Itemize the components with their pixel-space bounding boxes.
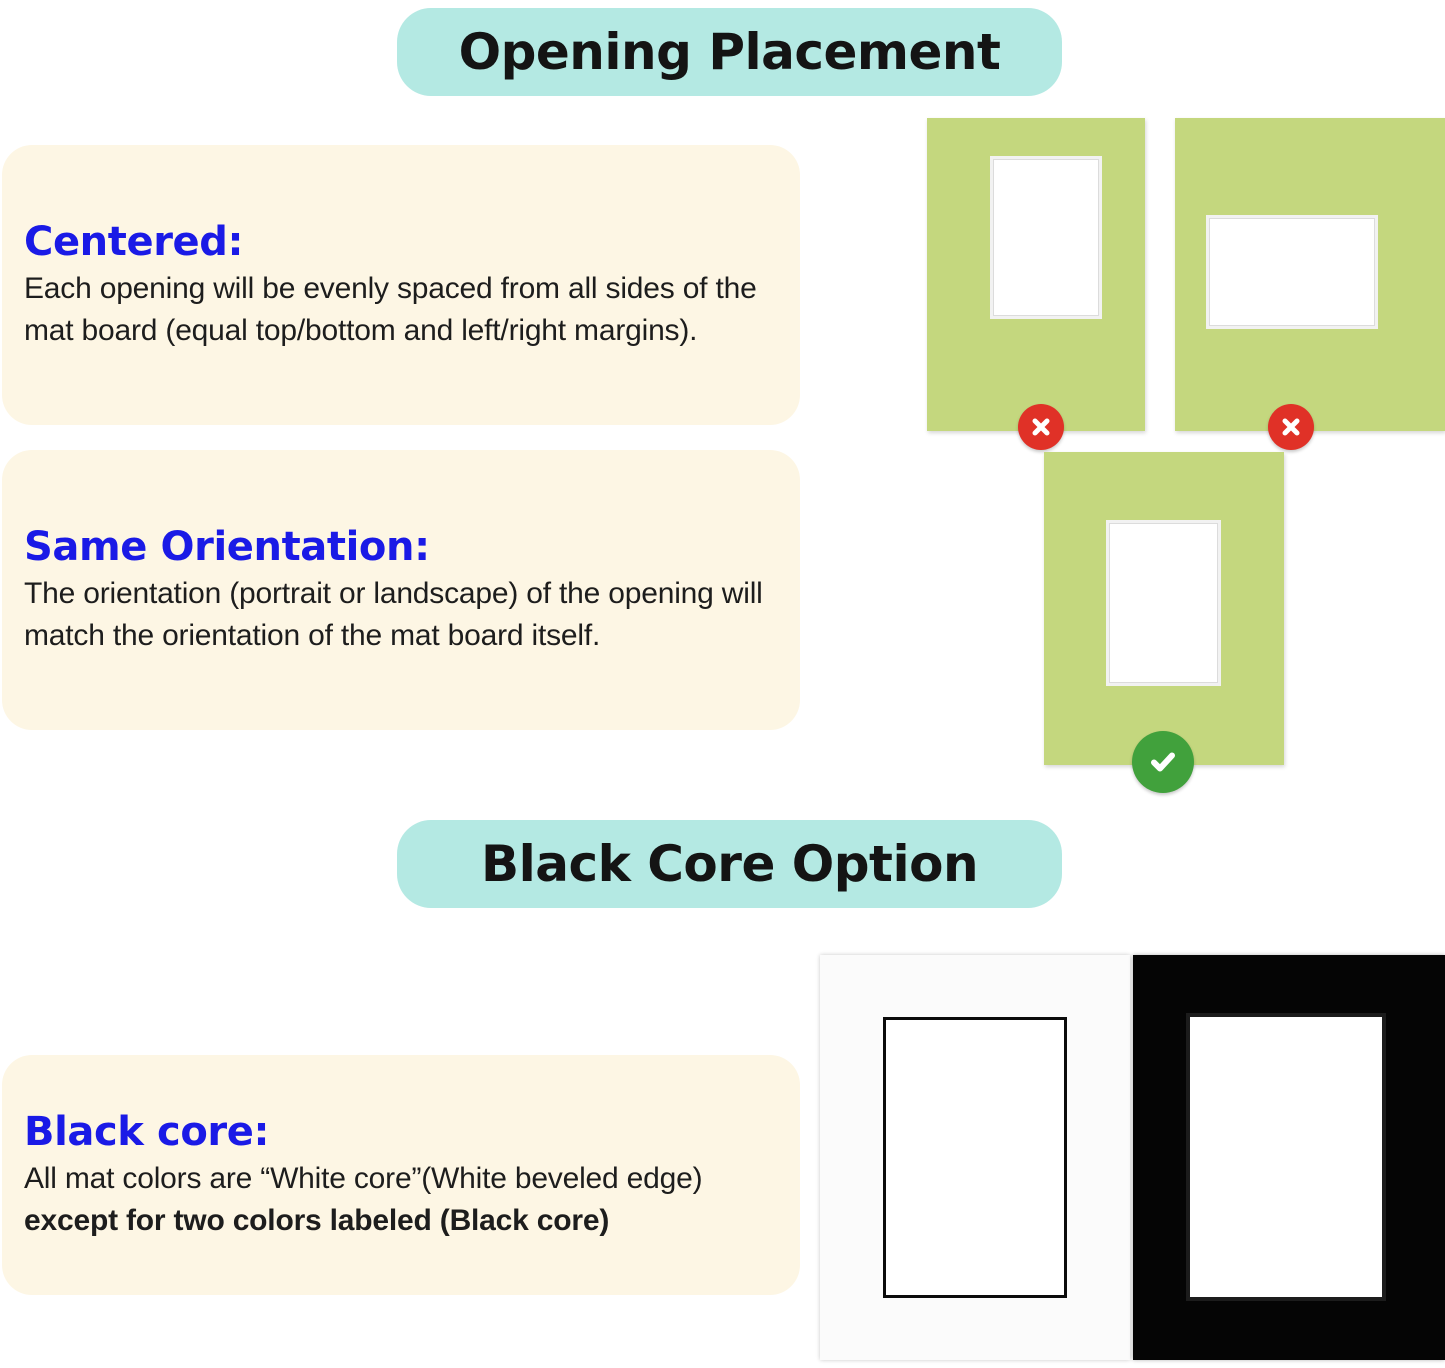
info-card-centered-body: Each opening will be evenly spaced from …: [24, 268, 778, 351]
check-circle-icon: [1132, 731, 1194, 793]
mat-board-portrait-offset-opening: [927, 118, 1145, 431]
section-header-opening-placement-label: Opening Placement: [459, 23, 1001, 81]
info-card-black-core-heading: Black core:: [24, 1109, 778, 1156]
mat-opening-landscape: [1206, 215, 1378, 329]
mat-board-landscape-opening: [1175, 118, 1445, 431]
mat-opening-portrait: [990, 156, 1102, 319]
section-header-black-core-option-label: Black Core Option: [481, 835, 978, 893]
info-card-same-orientation: Same Orientation: The orientation (portr…: [2, 450, 800, 730]
mat-opening-portrait-centered: [1106, 520, 1221, 686]
info-card-black-core-body-line2: except for two colors labeled (Black cor…: [24, 1200, 778, 1241]
mat-opening-black-core: [883, 1017, 1067, 1298]
info-card-centered: Centered: Each opening will be evenly sp…: [2, 145, 800, 425]
mat-board-black-with-black-core: [1133, 955, 1445, 1360]
mat-board-white-with-black-core: [820, 955, 1130, 1360]
info-card-same-orientation-heading: Same Orientation:: [24, 524, 778, 571]
section-header-opening-placement: Opening Placement: [397, 8, 1062, 96]
x-circle-icon: [1268, 404, 1314, 450]
mat-opening-black-core: [1186, 1013, 1386, 1301]
x-circle-icon: [1018, 404, 1064, 450]
section-header-black-core-option: Black Core Option: [397, 820, 1062, 908]
info-card-centered-heading: Centered:: [24, 219, 778, 266]
info-card-black-core-body-line1: All mat colors are “White core”(White be…: [24, 1158, 778, 1199]
info-card-black-core: Black core: All mat colors are “White co…: [2, 1055, 800, 1295]
info-card-same-orientation-body: The orientation (portrait or landscape) …: [24, 573, 778, 656]
mat-board-centered-portrait-opening: [1044, 452, 1284, 765]
